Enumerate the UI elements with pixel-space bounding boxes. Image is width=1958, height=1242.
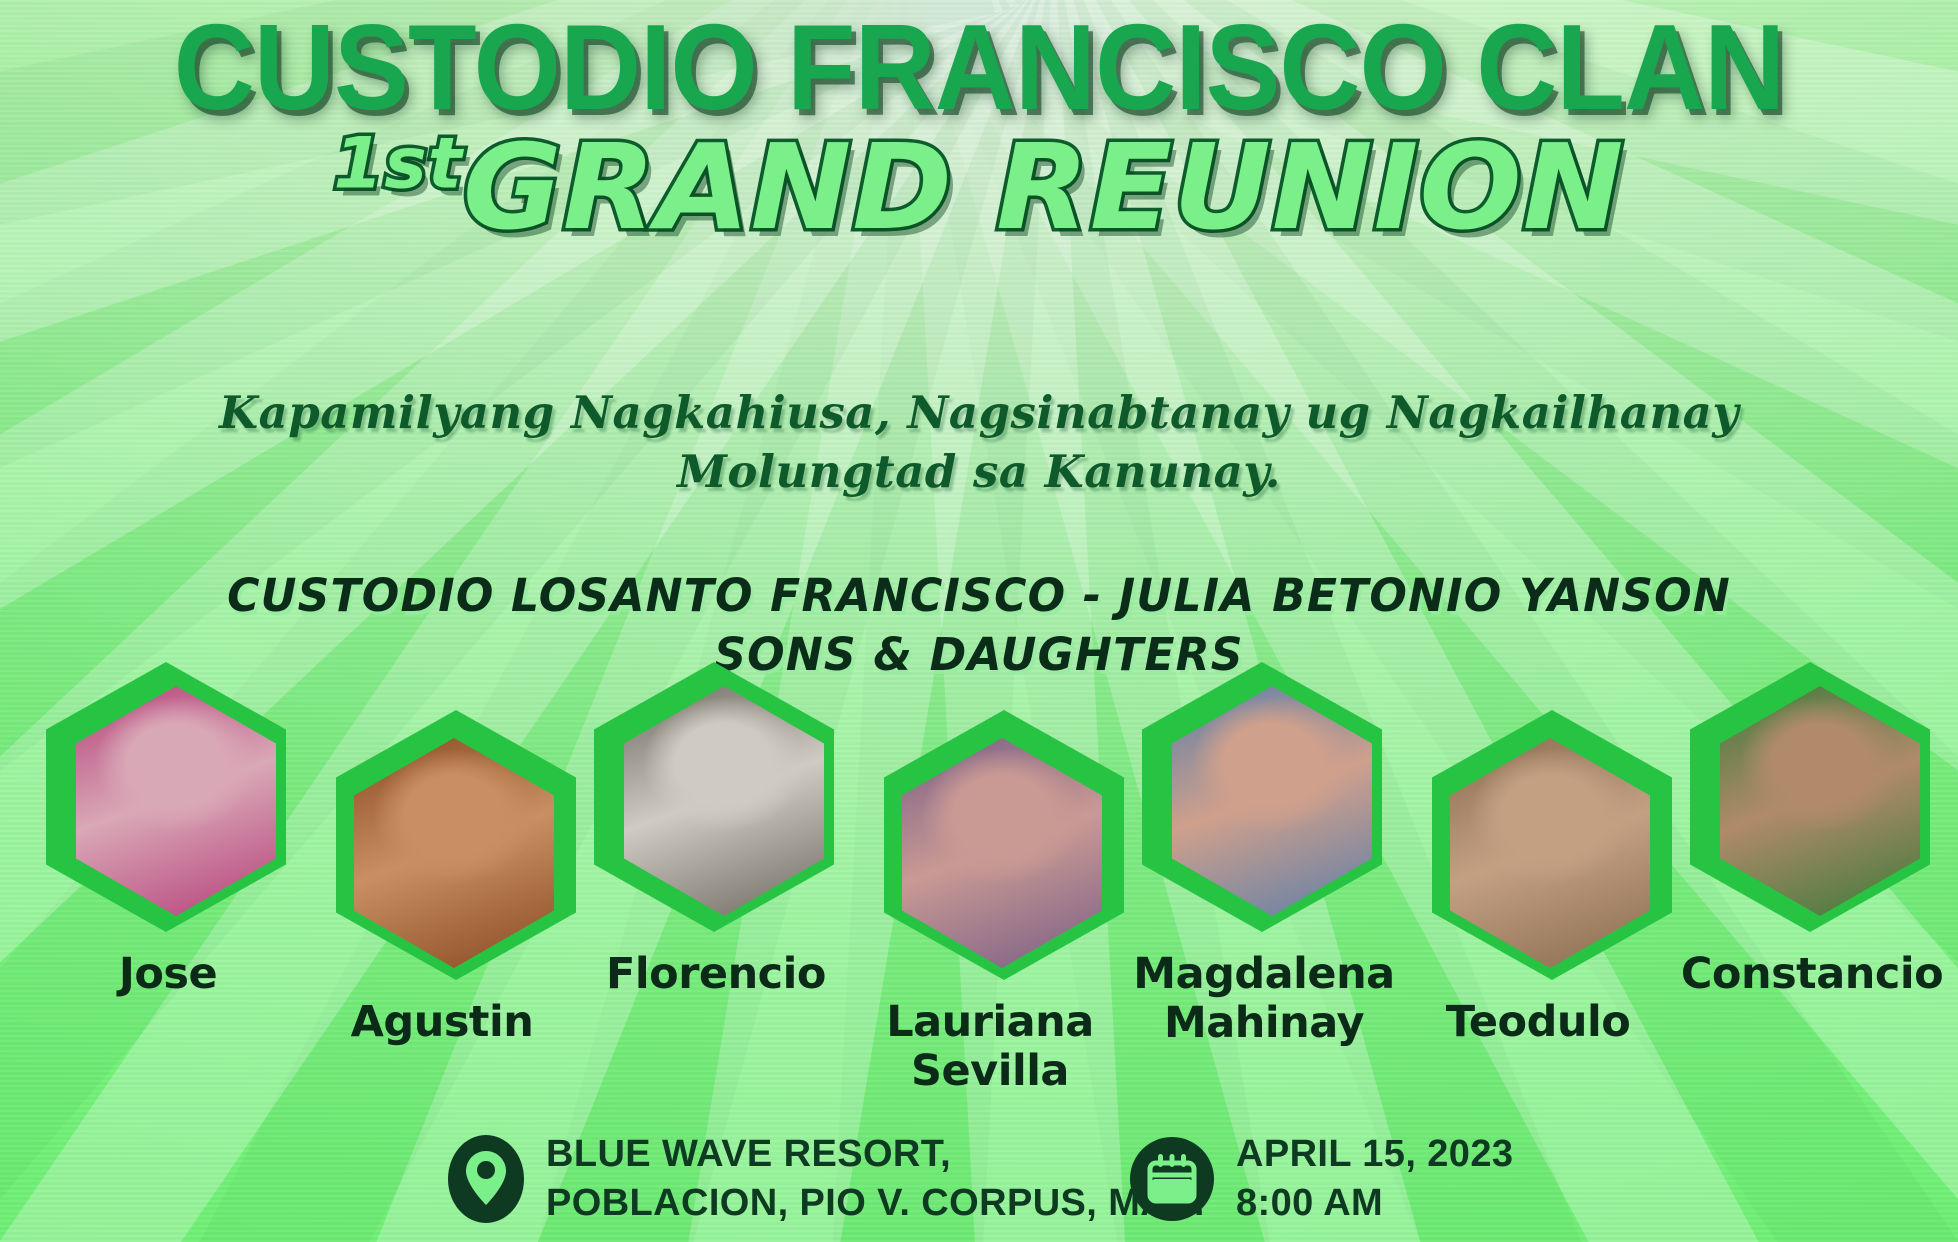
reunion-label: GRAND REUNION <box>463 118 1625 256</box>
portrait-cell: Teodulo <box>1388 700 1688 1120</box>
venue-name: BLUE WAVE RESORT, <box>546 1130 1205 1179</box>
page-title: CUSTODIO FRANCISCO CLAN <box>78 6 1879 128</box>
family-portrait-row: JoseAgustinFlorencioLaurianaSevillaMagda… <box>0 700 1958 1120</box>
parents-heading: CUSTODIO LOSANTO FRANCISCO - JULIA BETON… <box>20 566 1939 685</box>
parents-names: CUSTODIO LOSANTO FRANCISCO - JULIA BETON… <box>20 566 1939 625</box>
reunion-poster: CUSTODIO FRANCISCO CLAN 1stGRAND REUNION… <box>0 0 1958 1242</box>
location-text: BLUE WAVE RESORT, POBLACION, PIO V. CORP… <box>546 1130 1205 1229</box>
portrait-cell: Jose <box>18 700 318 1120</box>
portrait-cell: Agustin <box>292 700 592 1120</box>
calendar-icon <box>1130 1137 1214 1221</box>
portrait-name-line-1: Constancio <box>1632 950 1958 999</box>
footer: BLUE WAVE RESORT, POBLACION, PIO V. CORP… <box>0 1120 1958 1240</box>
sons-daughters-label: SONS & DAUGHTERS <box>20 625 1939 684</box>
location-pin-icon <box>448 1135 524 1223</box>
date-block: APRIL 15, 2023 8:00 AM <box>1130 1130 1513 1229</box>
location-block: BLUE WAVE RESORT, POBLACION, PIO V. CORP… <box>448 1130 1205 1229</box>
ordinal-label: 1st <box>333 122 462 204</box>
tagline: Kapamilyang Nagkahiusa, Nagsinabtanay ug… <box>0 384 1958 501</box>
portrait-cell: Constancio <box>1662 700 1958 1120</box>
subtitle-grand-reunion: 1stGRAND REUNION <box>0 128 1958 246</box>
date-text: APRIL 15, 2023 8:00 AM <box>1236 1130 1513 1229</box>
event-time: 8:00 AM <box>1236 1179 1513 1228</box>
venue-address: POBLACION, PIO V. CORPUS, MAS. <box>546 1179 1205 1228</box>
portrait-cell: MagdalenaMahinay <box>1114 700 1414 1120</box>
tagline-line-1: Kapamilyang Nagkahiusa, Nagsinabtanay ug… <box>0 384 1958 443</box>
tagline-line-2: Molungtad sa Kanunay. <box>0 443 1958 502</box>
portrait-cell: LaurianaSevilla <box>840 700 1140 1120</box>
event-date: APRIL 15, 2023 <box>1236 1130 1513 1179</box>
portrait-name: Constancio <box>1632 950 1958 999</box>
